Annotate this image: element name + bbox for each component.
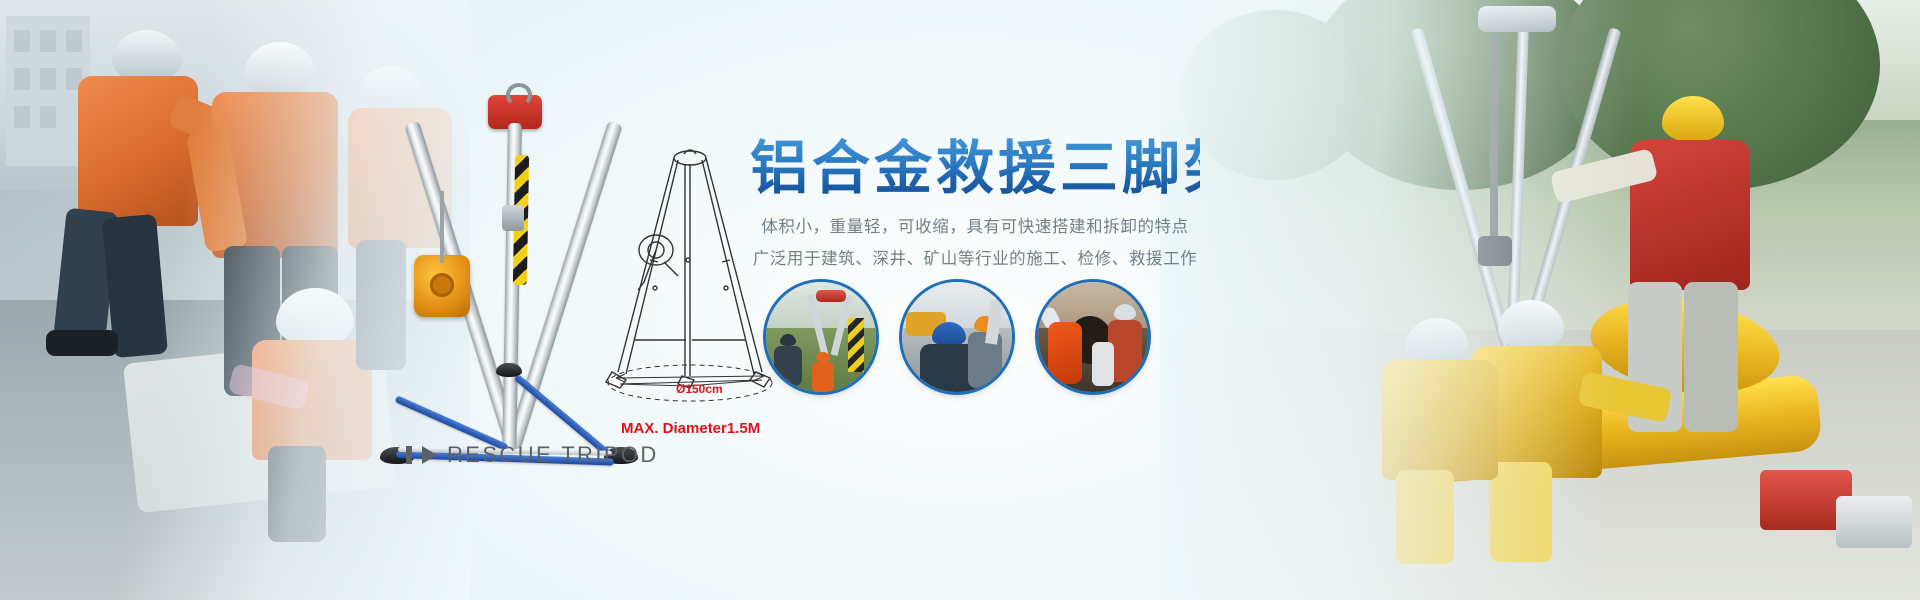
right-photo-hose-coil xyxy=(1585,287,1786,405)
right-photo-case-2 xyxy=(1836,496,1912,548)
banner-headline: 铝合金救援三脚架 xyxy=(750,138,1200,199)
manhole-rescue-photo[interactable] xyxy=(1038,282,1148,392)
tripod-winch xyxy=(414,255,470,317)
thumbnail-gallery xyxy=(766,282,1148,392)
right-photo-tree-1 xyxy=(1310,0,1610,190)
thumb3-orange-suit xyxy=(1048,322,1082,384)
right-photo-tree-2 xyxy=(1560,0,1880,190)
left-photo-tarp xyxy=(123,337,397,513)
banner-subtitle-line-1: 体积小，重量轻，可收缩，具有可快速搭建和拆卸的特点 xyxy=(750,212,1200,243)
thumb3-person-3 xyxy=(1092,342,1114,386)
right-operation-photo xyxy=(1160,0,1920,600)
product-banner: Ø150cm MAX. Diameter1.5M RESCUE TRIPOD 铝… xyxy=(0,0,1920,600)
thumb2-blue-helmet xyxy=(932,322,966,346)
right-photo-sky xyxy=(1160,0,1920,120)
play-triangle-icon xyxy=(422,446,437,464)
thumb1-worker-body xyxy=(812,362,834,392)
tripod-winch-cable xyxy=(440,191,444,263)
caption-bar-icon xyxy=(406,446,412,464)
banner-copy-block: 铝合金救援三脚架 体积小，重量轻，可收缩，具有可快速搭建和拆卸的特点 广泛用于建… xyxy=(750,138,1200,275)
field-rescue-tripod-photo[interactable] xyxy=(766,282,876,392)
thumb1-worker-helmet xyxy=(816,352,830,362)
right-photo-case-1 xyxy=(1760,470,1852,530)
right-photo-hose xyxy=(1397,374,1822,486)
diameter-small-label: Ø150cm xyxy=(676,382,723,396)
workers-briefing-photo[interactable] xyxy=(902,282,1012,392)
diameter-max-label: MAX. Diameter1.5M xyxy=(621,420,760,437)
thumb1-tripod-head xyxy=(816,290,846,302)
tripod-pulley xyxy=(502,205,524,231)
left-photo-building xyxy=(6,16,90,166)
product-caption-text: RESCUE TRIPOD xyxy=(447,442,659,468)
thumb1-hazard-post xyxy=(848,318,864,372)
thumb1-person-body xyxy=(774,346,802,386)
thumb1-person-head xyxy=(780,334,796,346)
thumb3-white-helmet xyxy=(1114,304,1136,320)
product-caption: RESCUE TRIPOD xyxy=(406,442,659,468)
banner-subtitle-line-2: 广泛用于建筑、深井、矿山等行业的施工、检修、救援工作 xyxy=(750,244,1200,275)
right-photo-road xyxy=(1160,330,1920,600)
